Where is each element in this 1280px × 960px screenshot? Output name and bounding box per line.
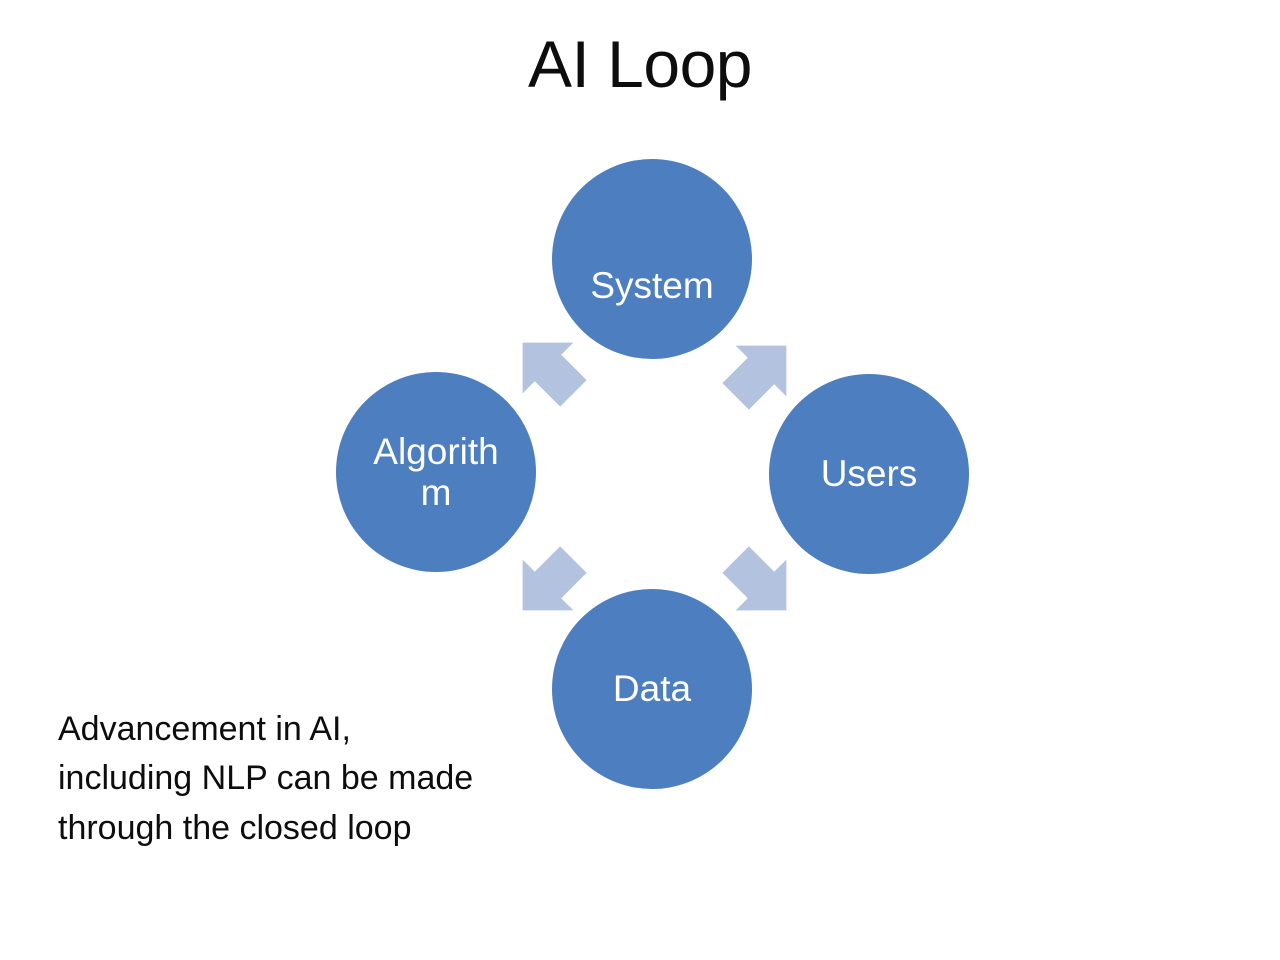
cycle-node-users[interactable]: Users <box>769 374 969 574</box>
caption-text-block: Advancement in AI, including NLP can be … <box>58 705 618 853</box>
caption-line-1: Advancement in AI, <box>58 705 618 754</box>
slide-canvas: AI Loop System <box>0 0 1280 960</box>
cycle-node-label-users: Users <box>795 453 943 494</box>
cycle-node-label-algorithm: Algorithm <box>362 431 510 514</box>
cycle-node-algorithm[interactable]: Algorithm <box>336 372 536 572</box>
cycle-node-system[interactable]: System <box>552 159 752 359</box>
caption-line-3: through the closed loop <box>58 804 618 853</box>
caption-line-2: including NLP can be made <box>58 754 618 803</box>
cycle-node-label-data: Data <box>578 668 726 709</box>
cycle-node-label-system: System <box>578 265 726 306</box>
